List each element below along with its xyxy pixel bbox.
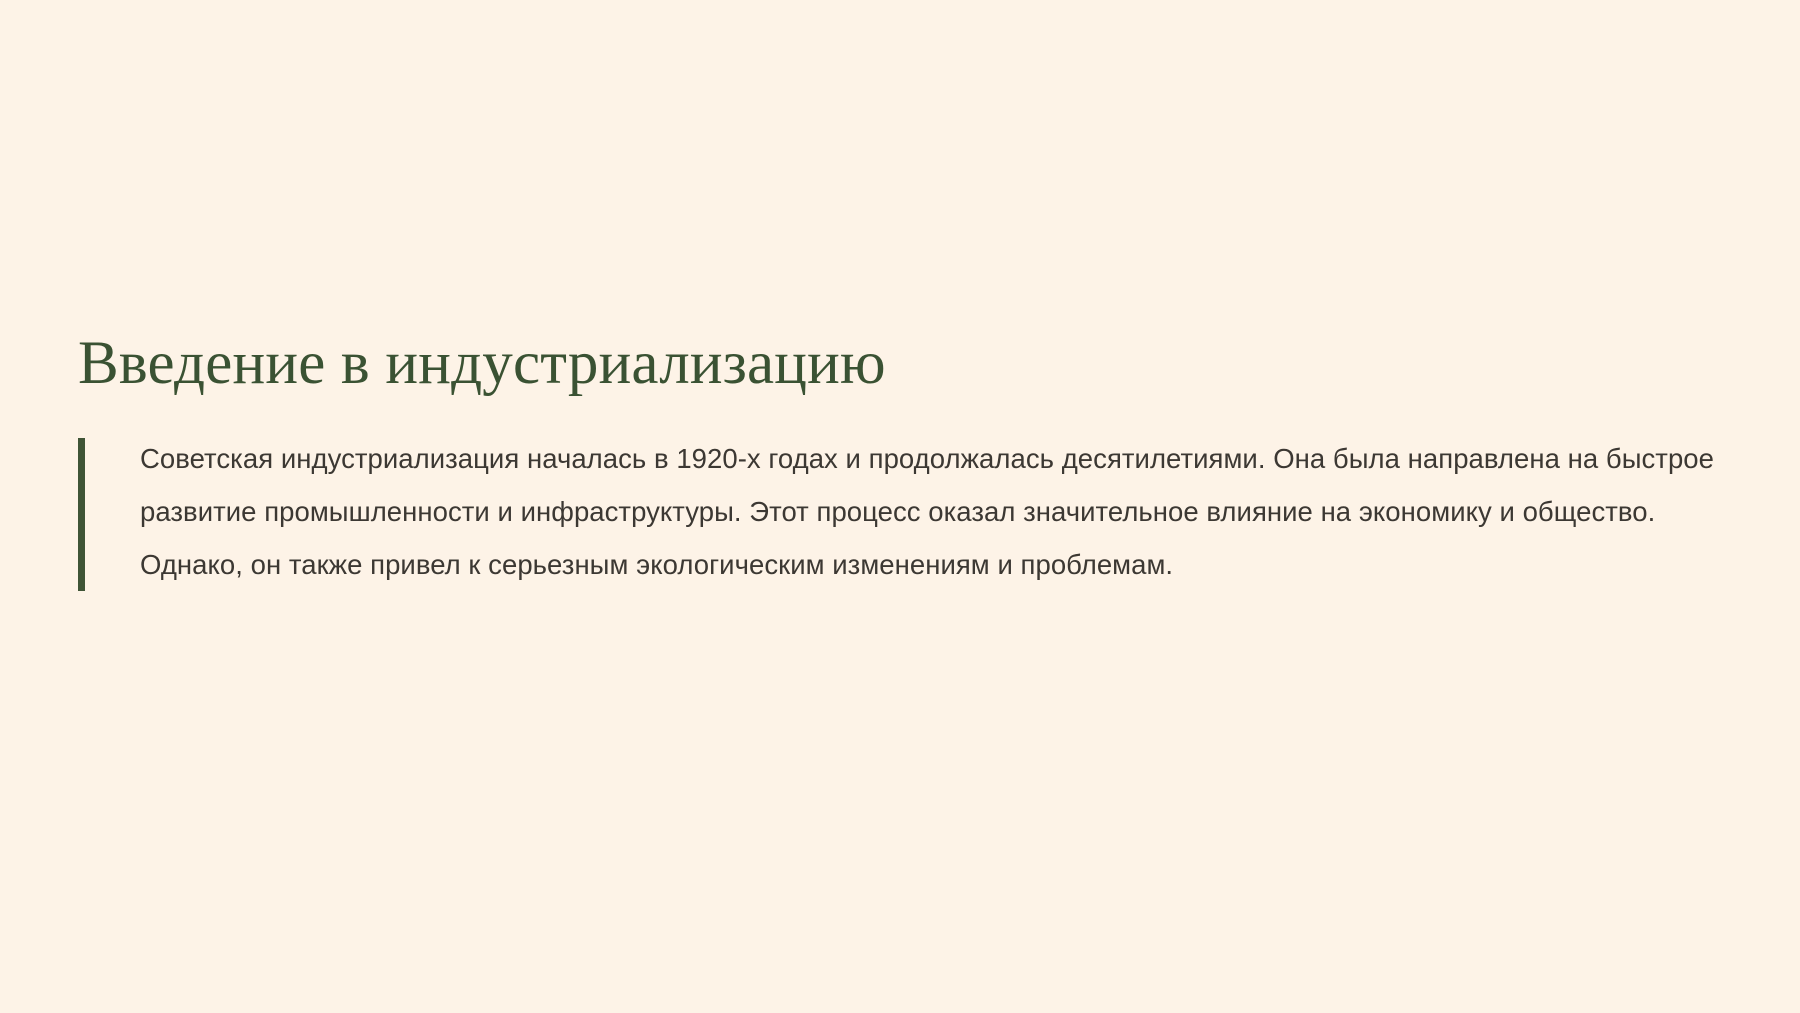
left-accent-bar <box>78 438 85 591</box>
highlighted-paragraph-block: Советская индустриализация началась в 19… <box>78 432 1738 591</box>
slide-canvas: Введение в индустриализацию Советская ин… <box>0 0 1800 1013</box>
slide-content: Введение в индустриализацию Советская ин… <box>78 330 1738 591</box>
page-title: Введение в индустриализацию <box>78 330 1738 398</box>
body-paragraph: Советская индустриализация началась в 19… <box>140 432 1738 591</box>
